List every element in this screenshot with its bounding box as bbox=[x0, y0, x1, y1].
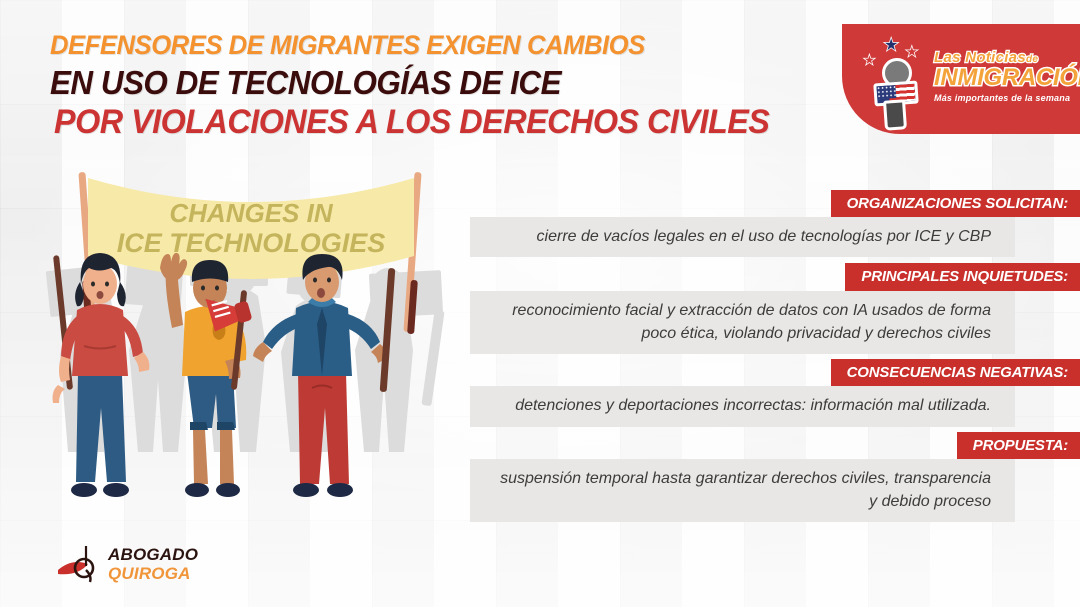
microphone-icon: ★ ★ ★ bbox=[860, 38, 934, 128]
star-icon: ★ bbox=[906, 45, 918, 58]
logo-line-2: QUIROGA bbox=[108, 565, 198, 582]
logo-mark-icon bbox=[56, 544, 108, 584]
badge-line-1: Las Noticiasde bbox=[934, 50, 1074, 65]
badge-tagline: Más importantes de la semana bbox=[934, 93, 1074, 103]
section-heading: ORGANIZACIONES SOLICITAN: bbox=[831, 190, 1080, 217]
content-panel: ORGANIZACIONES SOLICITAN: cierre de vací… bbox=[470, 190, 1080, 522]
banner-text-line-1: CHANGES IN bbox=[169, 198, 333, 228]
section-body: cierre de vacíos legales en el uso de te… bbox=[470, 217, 1015, 257]
section-consecuencias: CONSECUENCIAS NEGATIVAS: detenciones y d… bbox=[470, 359, 1080, 426]
section-propuesta: PROPUESTA: suspensión temporal hasta gar… bbox=[470, 432, 1080, 523]
protest-illustration: CHANGES IN ICE TECHNOLOGIES bbox=[40, 160, 470, 530]
logo-line-1: ABOGADO bbox=[108, 546, 198, 563]
section-body: detenciones y deportaciones incorrectas:… bbox=[470, 386, 1015, 426]
section-heading: CONSECUENCIAS NEGATIVAS: bbox=[831, 359, 1080, 386]
flag-stars bbox=[876, 85, 896, 99]
infographic-canvas: DEFENSORES DE MIGRANTES EXIGEN CAMBIOS E… bbox=[0, 0, 1080, 607]
badge-text-block: Las Noticiasde INMIGRACIÓN Más important… bbox=[934, 50, 1074, 103]
headline-line-3: POR VIOLACIONES A LOS DERECHOS CIVILES bbox=[54, 105, 769, 139]
section-inquietudes: PRINCIPALES INQUIETUDES: reconocimiento … bbox=[470, 263, 1080, 354]
banner-text-line-2: ICE TECHNOLOGIES bbox=[117, 228, 386, 258]
headline-line-2: EN USO DE TECNOLOGÍAS DE ICE bbox=[50, 66, 769, 99]
section-heading: PRINCIPALES INQUIETUDES: bbox=[845, 263, 1080, 290]
section-body: reconocimiento facial y extracción de da… bbox=[470, 291, 1015, 354]
logo-wordmark: ABOGADO QUIROGA bbox=[108, 546, 198, 582]
microphone-handle bbox=[883, 99, 907, 130]
badge-line-2: INMIGRACIÓN bbox=[934, 66, 1074, 90]
section-heading: PROPUESTA: bbox=[957, 432, 1080, 459]
news-brand-badge: ★ ★ ★ Las Noticiasde INMIGRACIÓN Más imp… bbox=[842, 24, 1080, 134]
star-icon: ★ bbox=[884, 38, 898, 54]
headline-block: DEFENSORES DE MIGRANTES EXIGEN CAMBIOS E… bbox=[50, 32, 807, 139]
headline-line-1: DEFENSORES DE MIGRANTES EXIGEN CAMBIOS bbox=[50, 32, 769, 59]
abogado-quiroga-logo: ABOGADO QUIROGA bbox=[56, 540, 236, 590]
star-icon: ★ bbox=[864, 54, 875, 66]
section-body: suspensión temporal hasta garantizar der… bbox=[470, 459, 1015, 522]
section-organizaciones: ORGANIZACIONES SOLICITAN: cierre de vací… bbox=[470, 190, 1080, 257]
